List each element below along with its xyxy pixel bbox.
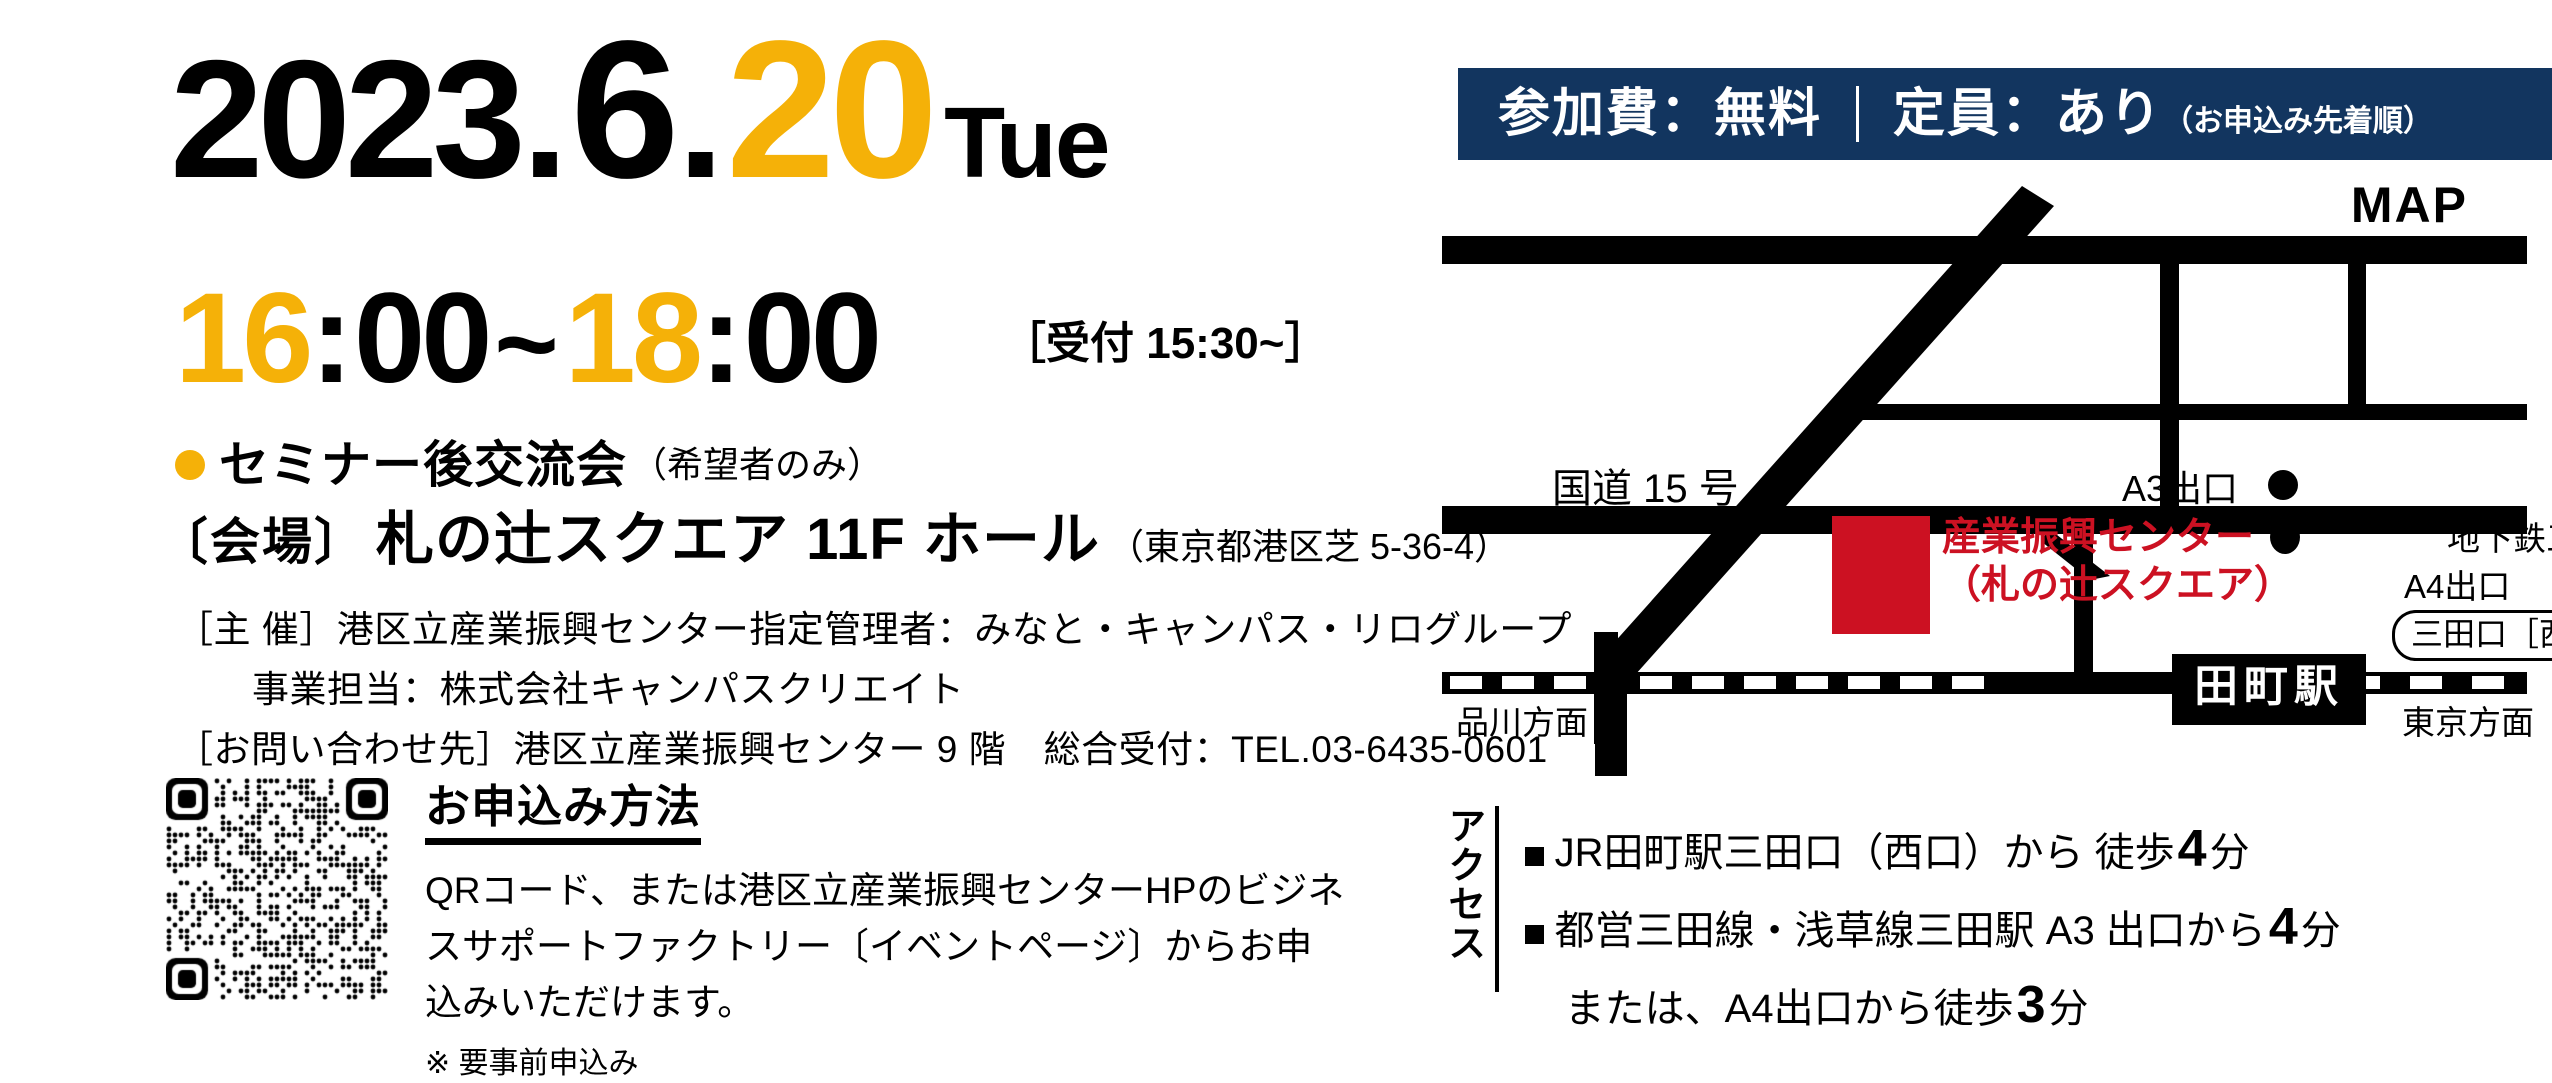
flyer-page: 2023 . 6 . 20 Tue 16 : 00 ~ 18 : 00 ［受付 … [0,0,2552,1027]
date-separator-1: . [522,35,569,203]
fee-capacity-bar: 参加費：無料 定員：あり（お申込み先着順） [1458,68,2552,160]
time-start-minute: 00 [354,275,488,403]
map-label-tamachi-station: 田町駅 [2172,654,2366,725]
time-end-minute: 00 [744,275,878,403]
time-end-hour: 18 [565,275,699,403]
access-item-number: 4 [2175,810,2210,888]
access-item-number: 3 [2014,966,2049,1044]
application-method-section: お申込み方法 QRコード、または港区立産業振興センターHPのビジネスサポートファ… [425,780,1345,1083]
capacity-note: （お申込み先着順） [2163,105,2433,138]
access-item-unit: 分 [2049,979,2089,1039]
access-map: MAP [1442,176,2552,776]
date-separator-2: . [677,35,724,203]
access-divider [1495,806,1499,992]
organizer-line-2: 事業担当：株式会社キャンパスクリエイト [176,660,1572,720]
map-label-subway-station: 地下鉄三田駅 [2447,520,2552,558]
event-date: 2023 . 6 . 20 Tue [170,12,1109,208]
map-label-a3-exit: A3出口 [2122,468,2238,509]
capacity-value: 定員：あり [1893,85,2163,143]
center-line-1: 産業振興センター [1942,516,2254,559]
map-label-center: 産業振興センター（札の辻スクエア） [1942,514,2293,609]
mixer-label: セミナー後交流会 [219,440,627,490]
access-section: アクセス JR田町駅三田口（西口）から 徒歩 4 分 都営三田線・浅草線三田駅 … [1442,806,2341,1044]
date-month: 6 [570,12,675,208]
application-title: お申込み方法 [425,780,701,845]
a3-exit-marker-icon [2268,470,2298,500]
qr-code-canvas[interactable] [166,778,388,1000]
map-label-mita-exit: 三田口［西口］ [2392,610,2552,661]
after-seminar-mixer: セミナー後交流会 （希望者のみ） [175,440,883,490]
left-info-column: 2023 . 6 . 20 Tue 16 : 00 ~ 18 : 00 ［受付 … [0,0,1420,1027]
event-time: 16 : 00 ~ 18 : 00 [175,275,878,403]
date-year: 2023 [170,35,520,203]
qr-code-icon[interactable] [166,778,388,1000]
map-label-tokyo-direction: 東京方面 [2402,704,2534,742]
dot-marker-icon [175,450,205,480]
venue-tag: 〔会場〕 [158,515,366,570]
mixer-note: （希望者のみ） [631,447,883,483]
map-label-a4-exit: A4出口 [2404,568,2510,606]
venue-line: 〔会場〕 札の辻スクエア 11F ホール （東京都港区芝 5-36-4） [158,508,1510,572]
access-item: JR田町駅三田口（西口）から 徒歩 4 分 [1525,810,2341,888]
application-note: ※ 要事前申込み [425,1044,1345,1083]
access-item: または、A4出口から徒歩 3 分 [1525,966,2341,1044]
application-body: QRコード、または港区立産業振興センターHPのビジネスサポートファクトリー〔イベ… [425,863,1345,1032]
access-item-text: JR田町駅三田口（西口）から 徒歩 [1555,823,2175,883]
fee-label: 参加費：無料 [1498,88,1822,140]
access-item-unit: 分 [2210,823,2250,883]
access-item-text: 都営三田線・浅草線三田駅 A3 出口から [1555,901,2266,961]
center-line-2: （札の辻スクエア） [1942,564,2293,607]
date-weekday: Tue [944,93,1108,193]
map-label-route15: 国道 15 号 [1552,466,1739,512]
time-colon-2: : [700,275,743,403]
vertical-divider-icon [1856,86,1859,142]
square-bullet-icon [1525,847,1544,866]
right-map-column: 参加費：無料 定員：あり（お申込み先着順） MAP [1420,0,2552,1027]
time-start-hour: 16 [175,275,309,403]
access-item-number: 4 [2266,888,2301,966]
organizer-line-3: ［お問い合わせ先］港区立産業振興センター 9 階 総合受付：TEL.03-643… [176,720,1572,780]
access-item-text: または、A4出口から徒歩 [1565,979,2014,1039]
square-bullet-icon [1525,925,1544,944]
reception-time: ［受付 15:30~］ [1002,322,1328,366]
capacity-label: 定員：あり（お申込み先着順） [1893,88,2433,140]
venue-name: 札の辻スクエア 11F ホール [376,508,1100,572]
red-building-block-icon [1832,516,1930,634]
map-label-shinagawa-direction: 品川方面 [1456,704,1588,742]
access-section-label: アクセス [1442,806,1495,984]
organizer-block: ［主 催］港区立産業振興センター指定管理者：みなと・キャンパス・リログループ 事… [176,600,1572,780]
access-items: JR田町駅三田口（西口）から 徒歩 4 分 都営三田線・浅草線三田駅 A3 出口… [1525,806,2341,1044]
time-range-tilde: ~ [494,290,558,400]
access-item-unit: 分 [2301,901,2341,961]
time-colon-1: : [310,275,353,403]
access-item: 都営三田線・浅草線三田駅 A3 出口から 4 分 [1525,888,2341,966]
organizer-line-1: ［主 催］港区立産業振興センター指定管理者：みなと・キャンパス・リログループ [176,600,1572,660]
date-day: 20 [726,12,932,208]
